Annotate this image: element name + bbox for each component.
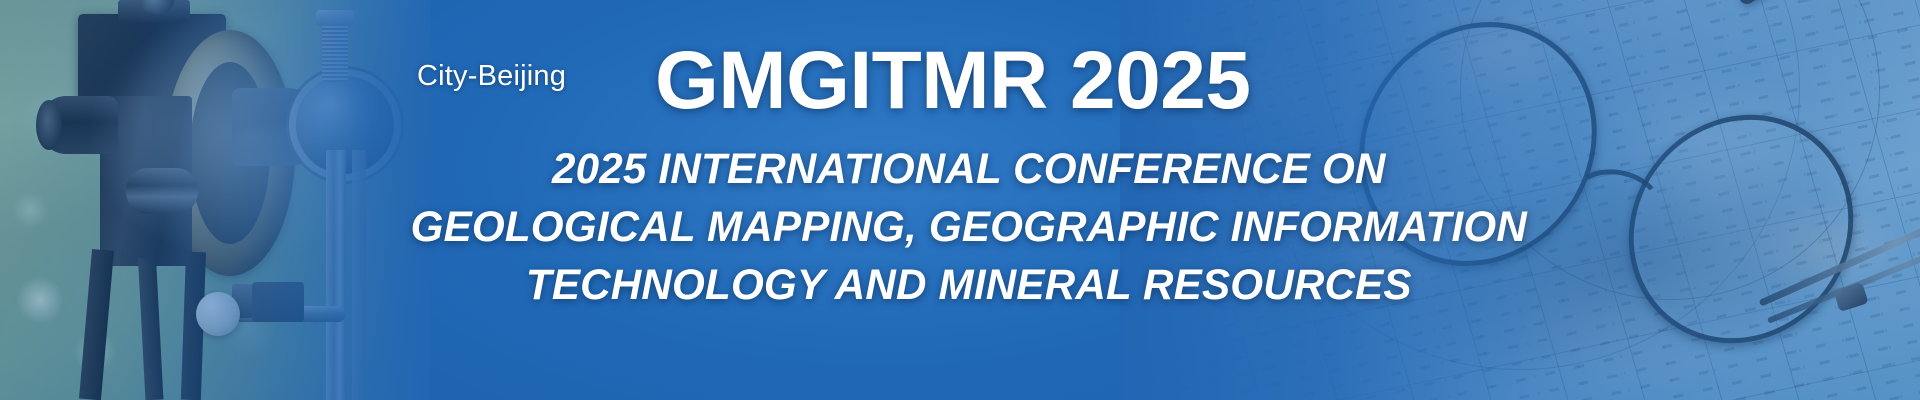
conference-title-line-3: TECHNOLOGY AND MINERAL RESOURCES xyxy=(19,256,1901,314)
conference-title-line-2: GEOLOGICAL MAPPING, GEOGRAPHIC INFORMATI… xyxy=(19,198,1901,256)
conference-full-title: 2025 INTERNATIONAL CONFERENCE ON GEOLOGI… xyxy=(19,140,1901,314)
conference-title-line-1: 2025 INTERNATIONAL CONFERENCE ON xyxy=(19,140,1901,198)
conference-acronym-title: GMGITMR 2025 xyxy=(655,40,1250,122)
conference-banner: City-Beijing GMGITMR 2025 2025 INTERNATI… xyxy=(0,0,1920,400)
banner-text-layer: City-Beijing GMGITMR 2025 2025 INTERNATI… xyxy=(0,0,1920,400)
city-label: City-Beijing xyxy=(417,60,566,93)
